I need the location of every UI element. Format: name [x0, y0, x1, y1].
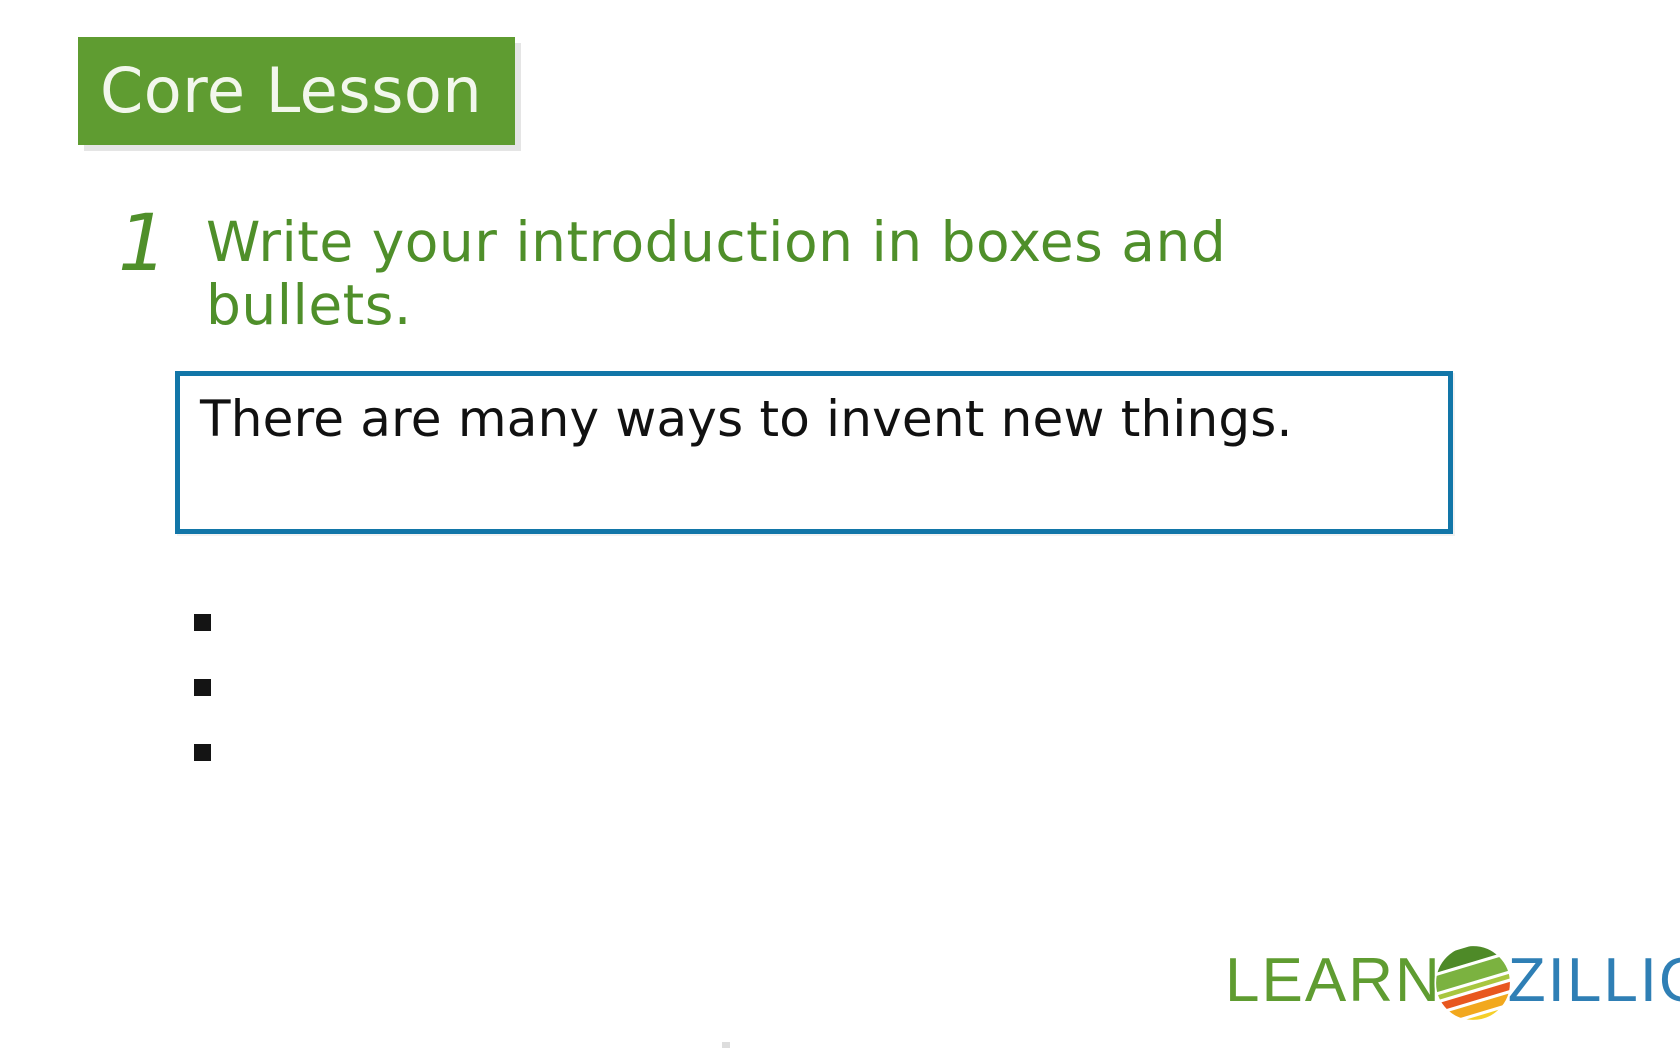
square-bullet-icon — [194, 679, 211, 696]
square-bullet-icon — [194, 744, 211, 761]
step-instruction-text: Write your introduction in boxes and bul… — [206, 205, 1326, 336]
page-artifact-mark — [722, 1042, 730, 1048]
learnzillion-logo: LEARN — [1225, 938, 1680, 1024]
globe-stripes-icon — [1432, 942, 1514, 1024]
square-bullet-icon — [194, 614, 211, 631]
main-idea-box: There are many ways to invent new things… — [175, 371, 1453, 534]
logo-word-learn: LEARN — [1225, 950, 1442, 1012]
step-instruction: 1 Write your introduction in boxes and b… — [118, 205, 1418, 336]
bullet-list — [194, 590, 1394, 785]
list-item — [194, 655, 1394, 720]
slide-canvas: Core Lesson 1 Write your introduction in… — [0, 0, 1680, 1050]
logo-word-zillion: ZILLION — [1508, 950, 1680, 1012]
core-lesson-banner: Core Lesson — [78, 37, 515, 145]
core-lesson-banner-label: Core Lesson — [100, 60, 482, 122]
step-number: 1 — [118, 205, 206, 281]
main-idea-text: There are many ways to invent new things… — [200, 390, 1428, 448]
list-item — [194, 590, 1394, 655]
list-item — [194, 720, 1394, 785]
